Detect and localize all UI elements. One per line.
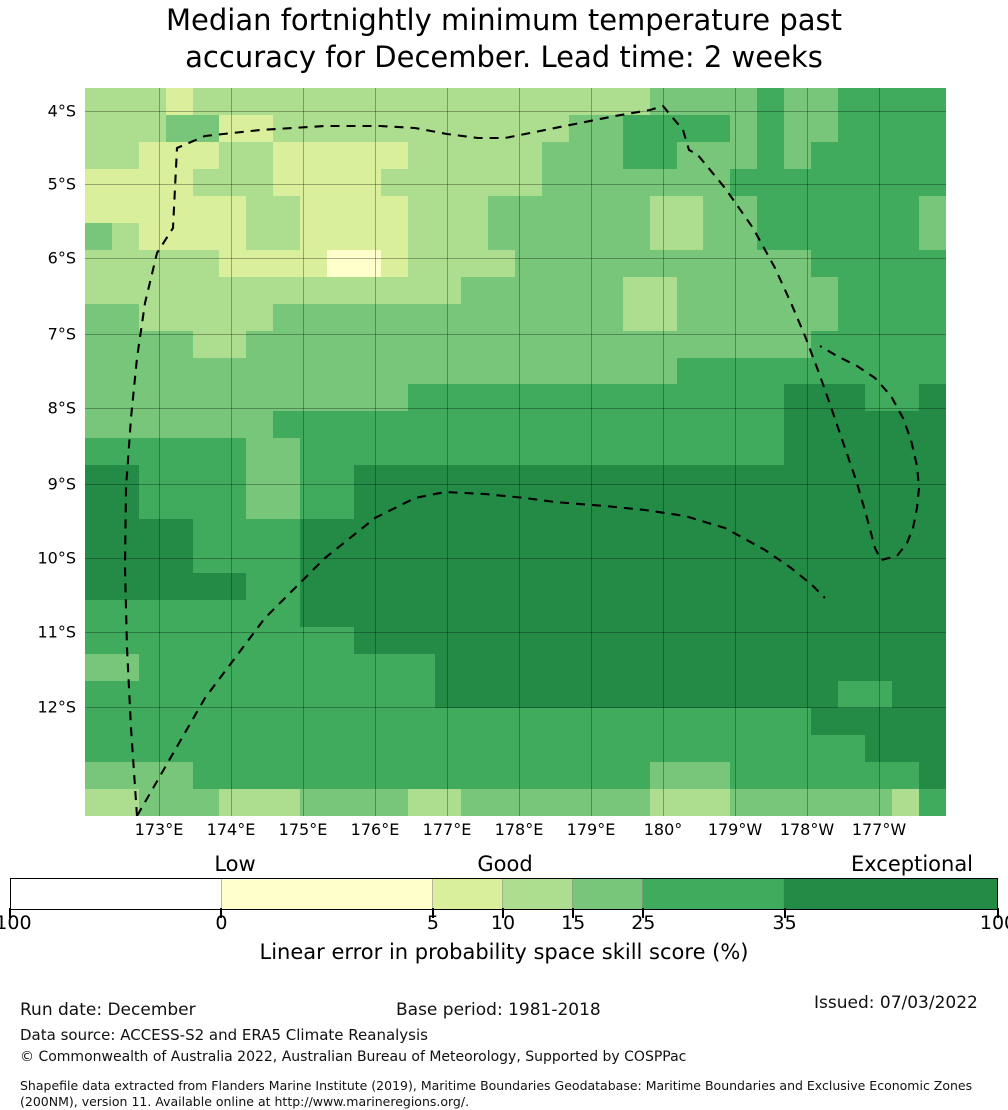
heatmap-cell (246, 115, 273, 142)
heatmap-cell (811, 384, 838, 411)
heatmap-cell (139, 115, 166, 142)
heatmap-cell (166, 88, 193, 115)
heatmap-cell (219, 115, 246, 142)
heatmap-cell (730, 304, 757, 331)
heatmap-cell (139, 438, 166, 465)
heatmap-cell (112, 627, 139, 654)
heatmap-cell (650, 250, 677, 277)
heatmap-cell (219, 358, 246, 385)
heatmap-cell (677, 600, 704, 627)
heatmap-cell (569, 573, 596, 600)
heatmap-cell (300, 708, 327, 735)
heatmap-cell (811, 735, 838, 762)
heatmap-cell (569, 411, 596, 438)
heatmap-cell (381, 681, 408, 708)
heatmap-cell (838, 681, 865, 708)
heatmap-cell (327, 438, 354, 465)
heatmap-cell (623, 438, 650, 465)
heatmap-cell (273, 169, 300, 196)
heatmap-cell (461, 196, 488, 223)
heatmap-cell (381, 88, 408, 115)
heatmap-cell (166, 384, 193, 411)
colorbar[interactable] (10, 878, 998, 910)
heatmap-cell (811, 708, 838, 735)
heatmap-cell (623, 654, 650, 681)
heatmap-cell (892, 331, 919, 358)
heatmap-cell (408, 573, 435, 600)
heatmap-cell (193, 654, 220, 681)
heatmap-cell (488, 465, 515, 492)
heatmap-cell (461, 142, 488, 169)
heatmap-cell (408, 196, 435, 223)
heatmap-cell (892, 492, 919, 519)
heatmap-cell (219, 411, 246, 438)
heatmap-cell (515, 600, 542, 627)
heatmap-cell (892, 277, 919, 304)
heatmap-cell (865, 250, 892, 277)
heatmap-cell (650, 762, 677, 789)
heatmap-cell (811, 304, 838, 331)
heatmap-cell (623, 142, 650, 169)
heatmap-cell (327, 384, 354, 411)
heatmap-cell (919, 600, 946, 627)
heatmap-cell (865, 465, 892, 492)
heatmap-cell (892, 465, 919, 492)
heatmap-cell (381, 600, 408, 627)
heatmap-cell (596, 546, 623, 573)
heatmap-cell (569, 762, 596, 789)
heatmap-cell (139, 600, 166, 627)
heatmap-cell (488, 573, 515, 600)
heatmap-cell (919, 411, 946, 438)
heatmap-cell (461, 358, 488, 385)
heatmap-cell (515, 789, 542, 816)
heatmap-cell (623, 88, 650, 115)
heatmap-cell (865, 115, 892, 142)
heatmap-cell (246, 169, 273, 196)
heatmap-cell (892, 115, 919, 142)
heatmap-cell (300, 196, 327, 223)
heatmap-cell (650, 600, 677, 627)
heatmap-cell (919, 250, 946, 277)
heatmap-cell (300, 492, 327, 519)
heatmap-cell (488, 142, 515, 169)
colorbar-tick-mark (997, 908, 999, 918)
heatmap-cell (246, 88, 273, 115)
heatmap-cell (515, 358, 542, 385)
heatmap-cell (677, 789, 704, 816)
heatmap-cell (919, 465, 946, 492)
heatmap-cell (623, 735, 650, 762)
heatmap-cell (892, 762, 919, 789)
heatmap-cell (596, 88, 623, 115)
ytick-label: 5°S (6, 175, 76, 194)
heatmap-cell (596, 411, 623, 438)
heatmap-cell (515, 762, 542, 789)
heatmap-cell (112, 169, 139, 196)
heatmap-cell (246, 411, 273, 438)
heatmap-cell (919, 223, 946, 250)
heatmap-cell (677, 142, 704, 169)
heatmap-cell (757, 88, 784, 115)
heatmap-cell (757, 384, 784, 411)
heatmap-cell (703, 465, 730, 492)
heatmap-cell (85, 681, 112, 708)
heatmap-cell (193, 223, 220, 250)
page-title: Median fortnightly minimum temperature p… (0, 2, 1008, 76)
heatmap-cell (919, 573, 946, 600)
colorbar-tick-mark (642, 908, 644, 918)
heatmap-cell (569, 546, 596, 573)
heatmap-cell (166, 358, 193, 385)
heatmap-cell (596, 277, 623, 304)
heatmap-cell (596, 600, 623, 627)
heatmap-cell (85, 411, 112, 438)
heatmap-cell (865, 654, 892, 681)
heatmap-cell (757, 735, 784, 762)
heatmap-cell (919, 88, 946, 115)
heatmap-cell (461, 169, 488, 196)
heatmap-cell (650, 681, 677, 708)
heatmap-cell (569, 519, 596, 546)
heatmap-cell (865, 331, 892, 358)
heatmap-cell (408, 789, 435, 816)
heatmap-cell (865, 438, 892, 465)
heatmap-cell (139, 142, 166, 169)
heatmap-cell (838, 115, 865, 142)
heatmap-cell (85, 735, 112, 762)
heatmap-cell (461, 438, 488, 465)
heatmap-cell (85, 358, 112, 385)
heatmap-cell (730, 331, 757, 358)
heatmap-cell (515, 492, 542, 519)
heatmap-cell (381, 223, 408, 250)
heatmap-cell (246, 519, 273, 546)
heatmap-cell (757, 492, 784, 519)
heatmap-cell (219, 735, 246, 762)
heatmap-cell (85, 304, 112, 331)
heatmap-cell (461, 250, 488, 277)
heatmap-cell (273, 142, 300, 169)
heatmap-cell (784, 411, 811, 438)
heatmap-cell (408, 681, 435, 708)
heatmap-cell (246, 492, 273, 519)
heatmap-cell (273, 115, 300, 142)
heatmap-cell (730, 492, 757, 519)
heatmap-cell (381, 546, 408, 573)
heatmap-cell (892, 411, 919, 438)
heatmap-cell (435, 411, 462, 438)
heatmap-cell (408, 762, 435, 789)
heatmap-cell (408, 546, 435, 573)
heatmap-cell (381, 277, 408, 304)
heatmap-cell (354, 411, 381, 438)
heatmap-cell (542, 196, 569, 223)
heatmap-cell (838, 384, 865, 411)
heatmap-cell (784, 762, 811, 789)
heatmap-cell (461, 681, 488, 708)
heatmap-cell (865, 223, 892, 250)
heatmap-cell (569, 250, 596, 277)
heatmap-cell (838, 411, 865, 438)
heatmap-cell (515, 411, 542, 438)
ytick-label: 8°S (6, 399, 76, 418)
heatmap-cell (381, 250, 408, 277)
heatmap-cell (677, 573, 704, 600)
heatmap-cell (623, 115, 650, 142)
heatmap-cell (354, 250, 381, 277)
heatmap-cell (219, 573, 246, 600)
heatmap-cell (139, 492, 166, 519)
heatmap-cell (112, 654, 139, 681)
heatmap-cell (865, 169, 892, 196)
heatmap-cell (246, 304, 273, 331)
heatmap-cell (193, 789, 220, 816)
heatmap-cell (488, 331, 515, 358)
heatmap-cell (85, 600, 112, 627)
heatmap-cell (112, 762, 139, 789)
heatmap-cell (461, 331, 488, 358)
heatmap-cell (193, 250, 220, 277)
heatmap-cell (811, 115, 838, 142)
heatmap-cell (354, 627, 381, 654)
heatmap-cell (811, 331, 838, 358)
heatmap-cell (300, 789, 327, 816)
heatmap-cell (784, 358, 811, 385)
heatmap-cell (166, 331, 193, 358)
heatmap-cell (730, 600, 757, 627)
heatmap-cell (408, 654, 435, 681)
heatmap-cell (838, 304, 865, 331)
heatmap-cell (569, 438, 596, 465)
heatmap-cell (919, 735, 946, 762)
heatmap-cell (193, 708, 220, 735)
heatmap-cell (273, 735, 300, 762)
heatmap-cell (919, 654, 946, 681)
heatmap-cell (112, 789, 139, 816)
heatmap-cell (327, 358, 354, 385)
heatmap-cell (784, 573, 811, 600)
heatmap-cell (327, 654, 354, 681)
heatmap-cell (757, 411, 784, 438)
heatmap-cell (85, 88, 112, 115)
heatmap-cell (166, 654, 193, 681)
heatmap-cell (703, 654, 730, 681)
heatmap-cell (677, 115, 704, 142)
heatmap-cell (219, 250, 246, 277)
heatmap-cell (327, 115, 354, 142)
heatmap-cell (703, 627, 730, 654)
heatmap-cell (515, 438, 542, 465)
heatmap-cell (515, 546, 542, 573)
heatmap-cell (596, 492, 623, 519)
heatmap-cell (542, 735, 569, 762)
heatmap-plot-area (85, 88, 946, 816)
heatmap-cell (677, 735, 704, 762)
heatmap-cell (300, 277, 327, 304)
heatmap-cell (865, 600, 892, 627)
heatmap-cell (677, 169, 704, 196)
heatmap-cell (677, 546, 704, 573)
heatmap-cell (703, 384, 730, 411)
heatmap-cell (703, 735, 730, 762)
heatmap-cell (677, 277, 704, 304)
heatmap-cell (596, 304, 623, 331)
heatmap-cell (730, 546, 757, 573)
heatmap-cell (596, 358, 623, 385)
heatmap-cell (865, 546, 892, 573)
heatmap-cell (219, 438, 246, 465)
heatmap-cell (703, 277, 730, 304)
heatmap-cell (354, 789, 381, 816)
heatmap-cell (811, 411, 838, 438)
heatmap-cell (569, 169, 596, 196)
heatmap-cell (650, 384, 677, 411)
footer-data-source: Data source: ACCESS-S2 and ERA5 Climate … (20, 1026, 428, 1044)
heatmap-cell (757, 223, 784, 250)
heatmap-cell (139, 627, 166, 654)
heatmap-cell (219, 681, 246, 708)
heatmap-cell (273, 358, 300, 385)
heatmap-cell (327, 196, 354, 223)
heatmap-cell (219, 223, 246, 250)
heatmap-cell (515, 88, 542, 115)
heatmap-cell (488, 789, 515, 816)
heatmap-cell (166, 142, 193, 169)
heatmap-cell (542, 88, 569, 115)
heatmap-cell (300, 250, 327, 277)
heatmap-cell (569, 223, 596, 250)
heatmap-cell (515, 627, 542, 654)
heatmap-cell (596, 384, 623, 411)
heatmap-cell (892, 708, 919, 735)
heatmap-cell (246, 358, 273, 385)
heatmap-cell (488, 250, 515, 277)
heatmap-cell (300, 600, 327, 627)
heatmap-cell (596, 708, 623, 735)
heatmap-cell (703, 492, 730, 519)
heatmap-cell (757, 277, 784, 304)
heatmap-cell (166, 627, 193, 654)
colorbar-band (433, 879, 503, 909)
heatmap-cell (193, 142, 220, 169)
heatmap-cell (408, 519, 435, 546)
heatmap-cell (166, 708, 193, 735)
heatmap-cell (757, 331, 784, 358)
heatmap-cell (139, 789, 166, 816)
heatmap-cell (703, 88, 730, 115)
heatmap-cell (515, 250, 542, 277)
heatmap-cell (112, 304, 139, 331)
heatmap-cell (650, 789, 677, 816)
heatmap-cell (381, 627, 408, 654)
heatmap-cell (730, 384, 757, 411)
heatmap-cell (246, 384, 273, 411)
heatmap-cell (596, 331, 623, 358)
heatmap-cell (784, 546, 811, 573)
heatmap-cell (246, 196, 273, 223)
colorbar-tick-mark (572, 908, 574, 918)
heatmap-cell (623, 169, 650, 196)
heatmap-cell (85, 331, 112, 358)
heatmap-cell (327, 789, 354, 816)
heatmap-cell (542, 331, 569, 358)
ytick-label: 7°S (6, 325, 76, 344)
heatmap-cell (246, 331, 273, 358)
heatmap-cell (623, 465, 650, 492)
heatmap-cell (461, 223, 488, 250)
heatmap-cell (623, 196, 650, 223)
heatmap-cell (193, 196, 220, 223)
heatmap-cell (435, 438, 462, 465)
heatmap-cell (650, 142, 677, 169)
heatmap-cell (327, 250, 354, 277)
heatmap-cell (838, 492, 865, 519)
heatmap-cell (811, 196, 838, 223)
heatmap-cell (300, 223, 327, 250)
heatmap-cell (730, 573, 757, 600)
heatmap-cell (435, 465, 462, 492)
heatmap-cell (166, 519, 193, 546)
heatmap-cell (166, 735, 193, 762)
heatmap-cell (327, 627, 354, 654)
heatmap-cell (435, 304, 462, 331)
heatmap-cell (892, 573, 919, 600)
heatmap-cell (139, 88, 166, 115)
heatmap-cell (246, 708, 273, 735)
xtick-label: 173°E (135, 820, 184, 839)
colorbar-tick-label: 100 (980, 912, 1008, 934)
heatmap-cell (811, 762, 838, 789)
heatmap-cell (219, 465, 246, 492)
heatmap-cell (892, 223, 919, 250)
heatmap-cell (650, 331, 677, 358)
heatmap-cell (85, 492, 112, 519)
heatmap-cell (784, 142, 811, 169)
heatmap-cell (542, 492, 569, 519)
heatmap-cell (865, 411, 892, 438)
heatmap-cell (838, 627, 865, 654)
heatmap-cell (381, 196, 408, 223)
heatmap-cell (85, 789, 112, 816)
colorbar-tick-mark (784, 908, 786, 918)
heatmap-cell (515, 465, 542, 492)
heatmap-cell (730, 519, 757, 546)
heatmap-cell (408, 115, 435, 142)
heatmap-cell (461, 546, 488, 573)
heatmap-cell (435, 169, 462, 196)
heatmap-cell (219, 654, 246, 681)
heatmap-cell (677, 438, 704, 465)
heatmap-cell (865, 492, 892, 519)
heatmap-cell (166, 600, 193, 627)
heatmap-cell (542, 546, 569, 573)
xtick-label: 179°E (567, 820, 616, 839)
heatmap-cell (730, 735, 757, 762)
heatmap-cell (85, 250, 112, 277)
heatmap-cell (542, 708, 569, 735)
heatmap-cell (730, 789, 757, 816)
heatmap-cell (865, 789, 892, 816)
heatmap-cell (219, 627, 246, 654)
heatmap-cell (515, 277, 542, 304)
heatmap-cell (730, 762, 757, 789)
heatmap-cell (488, 384, 515, 411)
heatmap-cell (650, 438, 677, 465)
heatmap-cell (919, 762, 946, 789)
heatmap-cell (703, 223, 730, 250)
heatmap-cell (650, 492, 677, 519)
